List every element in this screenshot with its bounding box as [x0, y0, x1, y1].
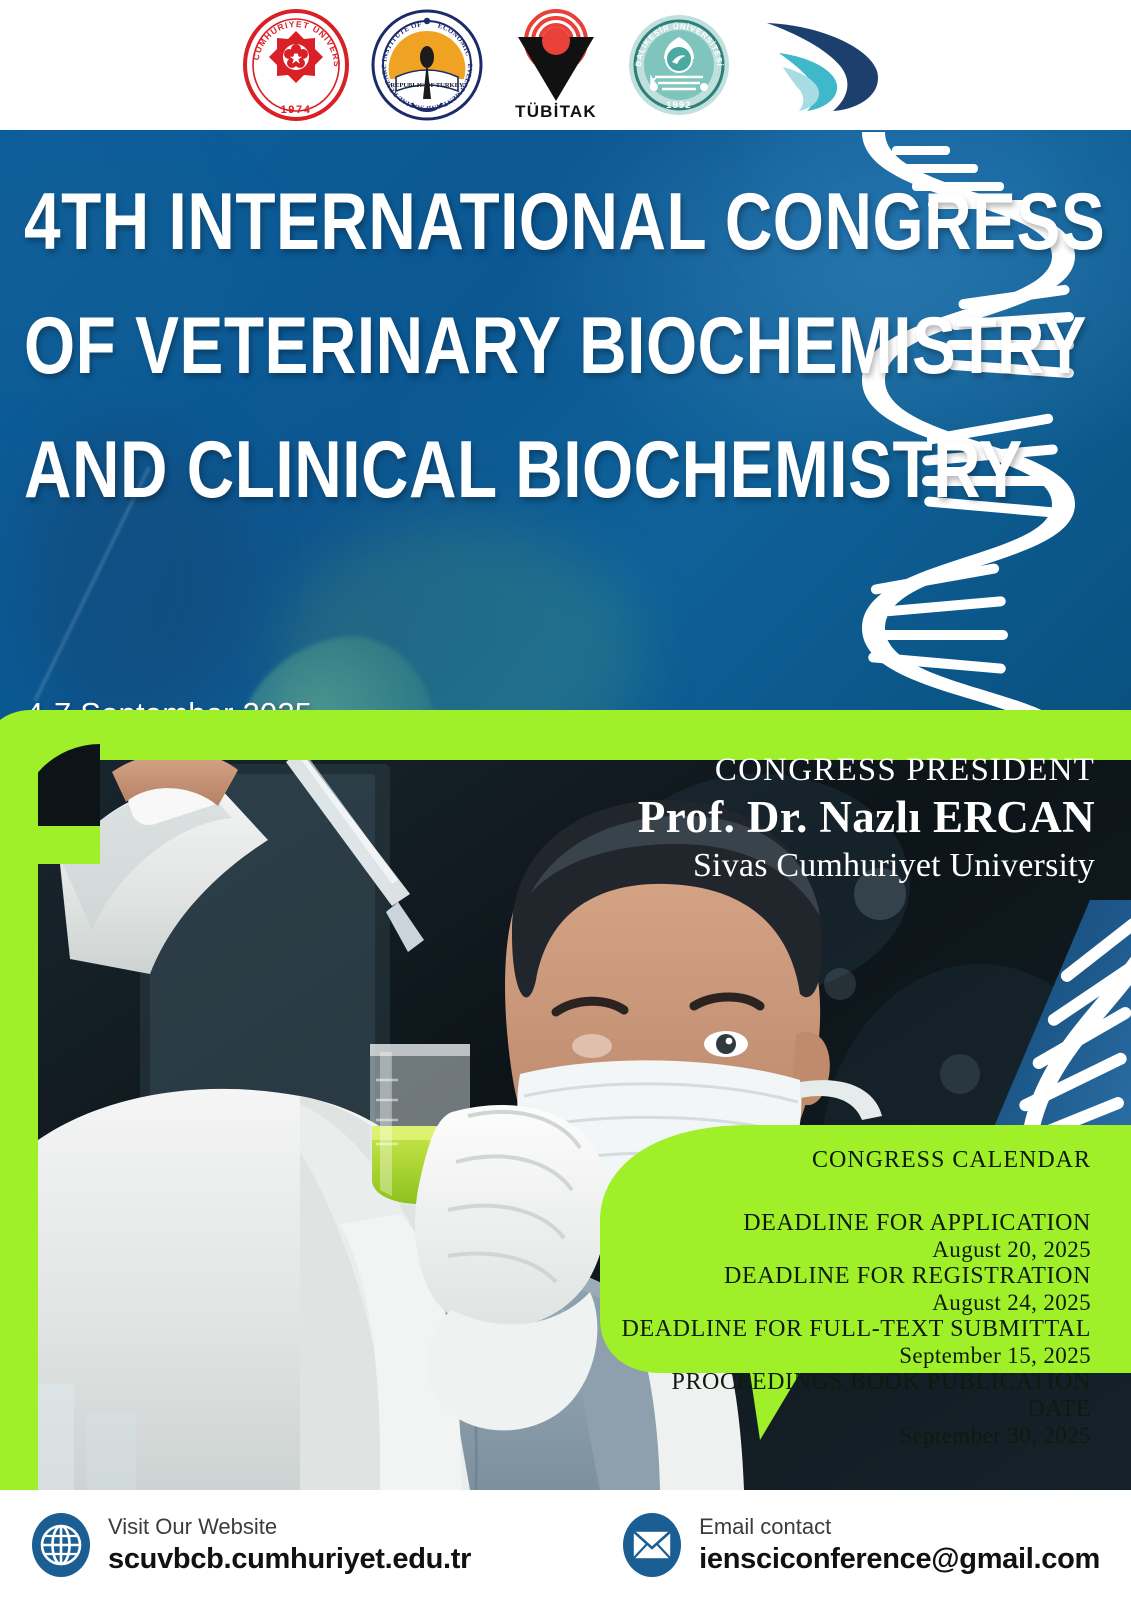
wave-logo [749, 13, 889, 117]
calendar-row-label: DEADLINE FOR REGISTRATION [621, 1263, 1091, 1290]
website-url[interactable]: scuvbcb.cumhuriyet.edu.tr [108, 1541, 471, 1577]
tubitak-label: TÜBİTAK [515, 102, 597, 121]
svg-text:1974: 1974 [281, 104, 312, 116]
calendar-row-date: August 24, 2025 [621, 1290, 1091, 1316]
green-divider-left-edge [0, 744, 38, 1524]
calendar-row-date: September 15, 2025 [621, 1343, 1091, 1369]
calendar-row: DEADLINE FOR FULL-TEXT SUBMITTAL Septemb… [621, 1316, 1091, 1369]
globe-icon [30, 1512, 92, 1578]
title-line-3: AND CLINICAL BIOCHEMISTRY [24, 431, 904, 512]
president-name: Prof. Dr. Nazlı ERCAN [535, 791, 1095, 843]
president-label: CONGRESS PRESIDENT [535, 752, 1095, 789]
calendar-row-label: PROCEEDINGS BOOK PUBLICATION DATE [621, 1369, 1091, 1423]
calendar-row: DEADLINE FOR APPLICATION August 20, 2025 [621, 1210, 1091, 1263]
calendar-row: PROCEEDINGS BOOK PUBLICATION DATE Septem… [621, 1369, 1091, 1449]
calendar-title: CONGRESS CALENDAR [621, 1147, 1091, 1174]
sponsor-logo-bar: 1974 SIVAS CUMHURIYET ÜNIVERSITESI REPUB… [0, 0, 1131, 130]
calendar-text: CONGRESS CALENDAR DEADLINE FOR APPLICATI… [621, 1147, 1091, 1449]
title-line-2: OF VETERINARY BIOCHEMISTRY [24, 307, 904, 388]
title-line-1: 4TH INTERNATIONAL CONGRESS [24, 183, 904, 264]
calendar-row-label: DEADLINE FOR APPLICATION [621, 1210, 1091, 1237]
calendar-row-label: DEADLINE FOR FULL-TEXT SUBMITTAL [621, 1316, 1091, 1343]
svg-text:REPUBLIC OF TURKEY: REPUBLIC OF TURKEY [390, 82, 464, 89]
poster-header: 4TH INTERNATIONAL CONGRESS OF VETERINARY… [0, 124, 1131, 744]
poster-footer: Visit Our Website scuvbcb.cumhuriyet.edu… [0, 1490, 1131, 1600]
envelope-icon [621, 1512, 683, 1578]
institute-economic-development-social-research-logo: REPUBLIC OF TURKEY INSTITUTE OF ECONOMIC… [368, 7, 486, 123]
congress-president-block: CONGRESS PRESIDENT Prof. Dr. Nazlı ERCAN… [535, 752, 1095, 885]
congress-title: 4TH INTERNATIONAL CONGRESS OF VETERINARY… [24, 192, 854, 502]
website-contact[interactable]: Visit Our Website scuvbcb.cumhuriyet.edu… [30, 1512, 471, 1578]
sivas-cumhuriyet-university-logo: 1974 SIVAS CUMHURIYET ÜNIVERSITESI [242, 9, 350, 121]
calendar-row: DEADLINE FOR REGISTRATION August 24, 202… [621, 1263, 1091, 1316]
tubitak-logo: TÜBİTAK [504, 9, 609, 121]
calendar-row-date: August 20, 2025 [621, 1237, 1091, 1263]
website-label: Visit Our Website [108, 1513, 471, 1541]
email-contact[interactable]: Email contact iensciconference@gmail.com [621, 1512, 1100, 1578]
balikesir-university-logo: 1992 BALIKESİR ÜNİVERSİTESİ [627, 13, 731, 117]
calendar-row-date: September 30, 2025 [621, 1423, 1091, 1449]
congress-calendar-panel: CONGRESS CALENDAR DEADLINE FOR APPLICATI… [600, 1125, 1131, 1440]
email-address[interactable]: iensciconference@gmail.com [699, 1541, 1100, 1577]
email-label: Email contact [699, 1513, 1100, 1541]
president-organization: Sivas Cumhuriyet University [535, 847, 1095, 885]
svg-text:1992: 1992 [666, 100, 692, 110]
